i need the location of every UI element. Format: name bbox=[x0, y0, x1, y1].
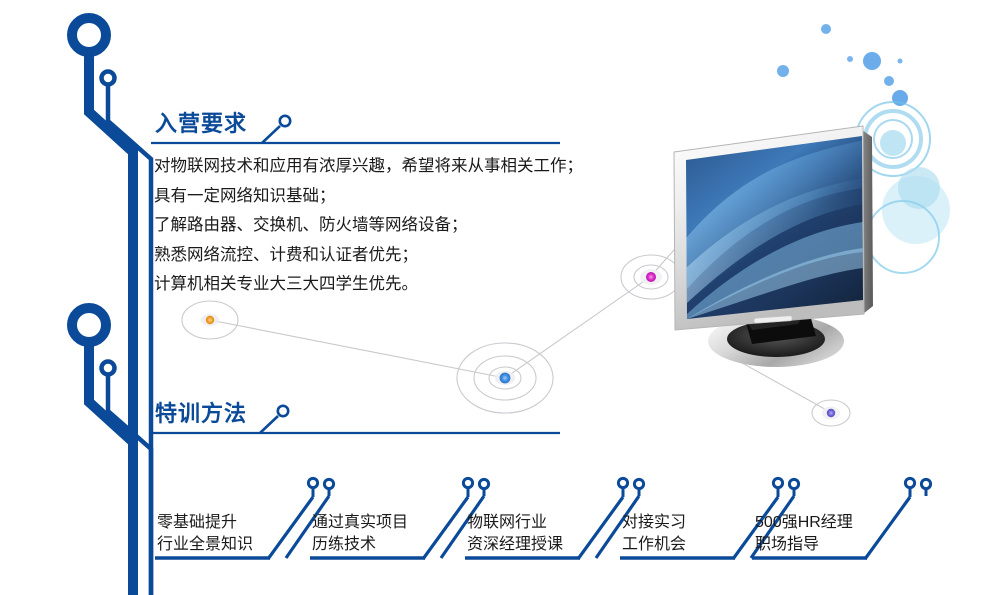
section-heading-methods: 特训方法 bbox=[155, 403, 247, 425]
method-item-line1: 物联网行业 bbox=[467, 512, 563, 534]
requirement-item: 对物联网技术和应用有浓厚兴趣，希望将来从事相关工作； bbox=[154, 152, 714, 182]
method-pin-ring-3a bbox=[618, 478, 627, 487]
method-item-line1: 500强HR经理 bbox=[755, 512, 853, 534]
requirement-item: 具有一定网络知识基础； bbox=[154, 182, 714, 212]
circuit-group-upper bbox=[72, 18, 560, 595]
node-violet bbox=[812, 400, 850, 426]
circuit-thin-trace bbox=[108, 85, 151, 595]
node-orange bbox=[182, 301, 238, 339]
circuit-big-ring bbox=[72, 308, 106, 342]
heading-lollipop-stem bbox=[260, 416, 278, 433]
node-ring bbox=[489, 367, 521, 389]
node-ring bbox=[474, 356, 536, 400]
method-pin-ring-3b bbox=[634, 479, 643, 488]
requirement-item: 计算机相关专业大三大四学生优先。 bbox=[154, 270, 714, 300]
bubble-dot bbox=[821, 24, 831, 34]
method-item-line2: 历练技术 bbox=[312, 534, 408, 556]
bubble-dot bbox=[863, 52, 881, 70]
section-heading-requirements: 入营要求 bbox=[155, 113, 247, 135]
method-item-5: 500强HR经理 职场指导 bbox=[755, 512, 853, 556]
method-item-line2: 职场指导 bbox=[755, 534, 853, 556]
method-item-2: 通过真实项目 历练技术 bbox=[312, 512, 408, 556]
circuit-thin-trace bbox=[108, 375, 151, 595]
method-diagonal-1 bbox=[268, 497, 313, 559]
bubble-dot bbox=[777, 65, 789, 77]
node-core bbox=[827, 409, 835, 417]
method-pin-ring-5b bbox=[921, 479, 930, 488]
method-pin-ring-4a bbox=[773, 478, 782, 487]
method-pin-ring-1b bbox=[324, 479, 333, 488]
node-ring bbox=[457, 343, 553, 413]
method-diagonal-2 bbox=[423, 497, 468, 559]
circuit-main-trace bbox=[89, 342, 133, 595]
bubble-cluster bbox=[777, 24, 908, 106]
method-item-line2: 工作机会 bbox=[622, 534, 686, 556]
circuit-small-ring bbox=[102, 72, 115, 85]
method-item-line1: 零基础提升 bbox=[157, 512, 253, 534]
node-halo bbox=[495, 371, 515, 385]
requirement-item: 熟悉网络流控、计费和认证者优先； bbox=[154, 241, 714, 271]
method-diagonal-3 bbox=[578, 497, 623, 559]
node-core bbox=[206, 316, 214, 324]
requirements-list: 对物联网技术和应用有浓厚兴趣，希望将来从事相关工作； 具有一定网络知识基础； 了… bbox=[154, 152, 714, 300]
method-pin-ring-2a bbox=[463, 478, 472, 487]
method-item-line2: 资深经理授课 bbox=[467, 534, 563, 556]
method-item-1: 零基础提升 行业全景知识 bbox=[157, 512, 253, 556]
method-diagonal-5 bbox=[865, 497, 910, 559]
heading-lollipop-ring bbox=[280, 116, 290, 126]
method-item-4: 对接实习 工作机会 bbox=[622, 512, 686, 556]
node-core bbox=[500, 373, 511, 384]
node-blue bbox=[457, 343, 553, 413]
node-ring bbox=[182, 301, 238, 339]
requirement-item: 了解路由器、交换机、防火墙等网络设备； bbox=[154, 211, 714, 241]
heading-lollipop-ring bbox=[278, 406, 288, 416]
network-link bbox=[210, 320, 505, 378]
method-item-line1: 通过真实项目 bbox=[312, 512, 408, 534]
node-ring bbox=[812, 400, 850, 426]
method-pin-ring-4b bbox=[789, 479, 798, 488]
bubble-dot bbox=[898, 59, 903, 64]
method-item-line1: 对接实习 bbox=[622, 512, 686, 534]
bubble-dot bbox=[884, 76, 894, 86]
circuit-main-trace bbox=[89, 52, 133, 595]
heading-lollipop-stem bbox=[262, 126, 280, 143]
bubble-dot bbox=[847, 56, 853, 62]
method-item-3: 物联网行业 资深经理授课 bbox=[467, 512, 563, 556]
method-pin-ring-1a bbox=[308, 478, 317, 487]
infographic-canvas: 入营要求 对物联网技术和应用有浓厚兴趣，希望将来从事相关工作； 具有一定网络知识… bbox=[0, 0, 1000, 595]
circuit-big-ring bbox=[72, 18, 106, 52]
method-pin-ring-5a bbox=[905, 478, 914, 487]
node-halo bbox=[822, 407, 840, 420]
method-item-line2: 行业全景知识 bbox=[157, 534, 253, 556]
bubble-dot bbox=[892, 90, 908, 106]
node-halo bbox=[201, 314, 219, 326]
circuit-small-ring bbox=[102, 362, 115, 375]
method-pin-ring-2b bbox=[479, 479, 488, 488]
